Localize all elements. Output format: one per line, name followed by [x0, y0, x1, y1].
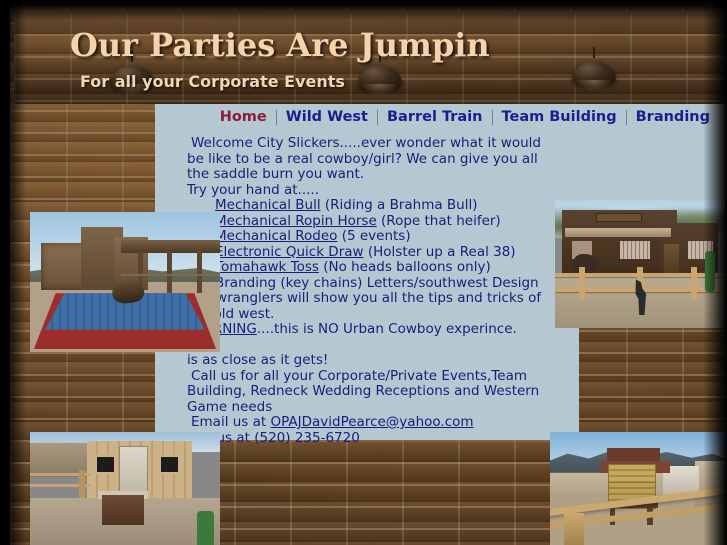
wranglers-line-2: the old west. — [187, 307, 547, 323]
activity-item: Electronic Quick Draw (Holster up a Real… — [187, 245, 547, 261]
activity-item: Mechanical Ropin Horse (Rope that heifer… — [187, 214, 547, 230]
wranglers-line-1: Our wranglers will show you all the tips… — [187, 291, 547, 307]
wall-lamp-icon — [572, 56, 616, 86]
activity-link-mechanical-rodeo[interactable]: Mechanical Rodeo — [215, 228, 337, 244]
photo-hay-bale-target — [550, 432, 727, 545]
activity-link-electronic-quick-draw[interactable]: Electronic Quick Draw — [215, 244, 364, 260]
nav-item-team-building[interactable]: Team Building — [493, 109, 626, 125]
nav-item-wild-west[interactable]: Wild West — [277, 109, 377, 125]
activity-link-tomahawk-toss[interactable]: Tomahawk Toss — [215, 259, 319, 275]
nav-item-home[interactable]: Home — [211, 109, 276, 125]
photo-old-west-saloon — [555, 200, 725, 328]
intro-line-2: be like to be a real cowboy/girl? We can… — [187, 152, 547, 168]
wall-lamp-icon — [358, 60, 402, 90]
warning-line-2: is as close as it gets! — [187, 353, 547, 369]
call-us-line-1: Call us for all your Corporate/Private E… — [187, 369, 547, 385]
main-content-panel: Welcome City Slickers.....ever wonder wh… — [181, 130, 555, 440]
call-us-line-3: Game needs — [187, 400, 547, 416]
nav-item-branding[interactable]: Branding — [627, 109, 719, 125]
intro-line-3: the saddle burn you want. — [187, 167, 547, 183]
call-us-line-2: Building, Redneck Wedding Receptions and… — [187, 384, 547, 400]
content-panel-right-fill — [555, 130, 727, 200]
activity-item: Mechanical Bull (Riding a Brahma Bull) — [187, 198, 547, 214]
photo-mechanical-bull — [30, 212, 220, 352]
phone-line: Call us at (520) 235-6720 — [187, 431, 547, 447]
intro-line-1: Welcome City Slickers.....ever wonder wh… — [187, 136, 547, 152]
activity-note: (Riding a Brahma Bull) — [321, 197, 478, 213]
email-link[interactable]: OPAJDavidPearce@yahoo.com — [270, 414, 473, 430]
warning-line: WARNING....this is NO Urban Cowboy exper… — [187, 322, 547, 353]
email-prefix: Email us at — [191, 414, 270, 430]
site-title: Our Parties Are Jumpin — [70, 26, 490, 64]
activity-link-mechanical-ropin-horse[interactable]: Mechanical Ropin Horse — [215, 213, 377, 229]
site-tagline: For all your Corporate Events — [80, 72, 345, 91]
email-line: Email us at OPAJDavidPearce@yahoo.com — [187, 415, 547, 431]
photo-wooden-shed-facade — [30, 432, 220, 545]
nav-item-barrel-train[interactable]: Barrel Train — [378, 109, 492, 125]
try-your-hand-line: Try your hand at..... — [187, 183, 547, 199]
activity-note: (Holster up a Real 38) — [364, 244, 516, 260]
activity-item: Mechanical Rodeo (5 events) — [187, 229, 547, 245]
activity-item-branding: Branding (key chains) Letters/southwest … — [187, 276, 547, 292]
main-navigation: Home Wild West Barrel Train Team Buildin… — [155, 104, 727, 130]
content-panel-right-fill-lower — [555, 328, 579, 440]
activity-note: (5 events) — [337, 228, 410, 244]
activity-note: (Rope that heifer) — [377, 213, 501, 229]
page-root: Our Parties Are Jumpin For all your Corp… — [0, 0, 727, 545]
site-header-banner: Our Parties Are Jumpin For all your Corp… — [14, 12, 727, 104]
activity-item: Tomahawk Toss (No heads balloons only) — [187, 260, 547, 276]
activity-link-mechanical-bull[interactable]: Mechanical Bull — [215, 197, 321, 213]
activity-note: (No heads balloons only) — [319, 259, 491, 275]
